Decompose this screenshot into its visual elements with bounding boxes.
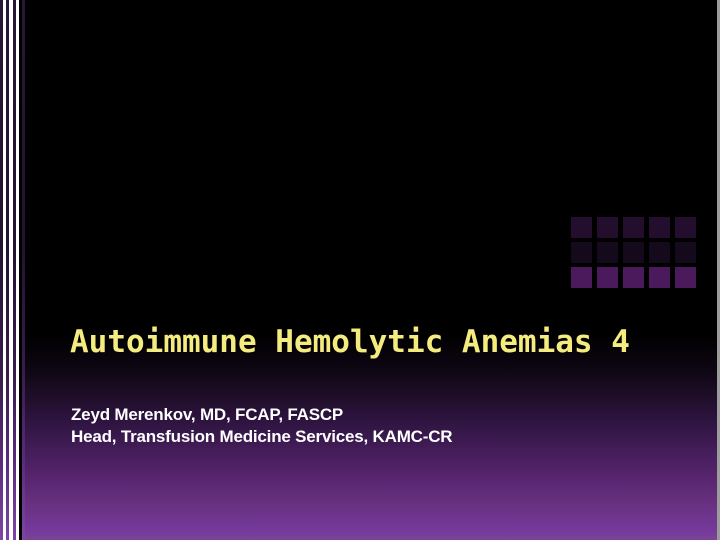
grid-square	[649, 242, 670, 263]
grid-square	[571, 242, 592, 263]
grid-square	[675, 267, 696, 288]
slide-subtitle: Zeyd Merenkov, MD, FCAP, FASCP Head, Tra…	[71, 404, 631, 448]
subtitle-line-affiliation: Head, Transfusion Medicine Services, KAM…	[71, 426, 631, 448]
decorative-square-grid	[571, 217, 696, 288]
grid-square	[623, 267, 644, 288]
left-stripe-8	[22, 0, 25, 540]
grid-square	[571, 217, 592, 238]
grid-square	[571, 267, 592, 288]
grid-square	[597, 242, 618, 263]
title-slide: Autoimmune Hemolytic Anemias 4 Zeyd Mere…	[0, 0, 720, 540]
left-stripe-decoration	[0, 0, 40, 540]
grid-square	[649, 217, 670, 238]
subtitle-line-presenter: Zeyd Merenkov, MD, FCAP, FASCP	[71, 404, 631, 426]
grid-square	[623, 242, 644, 263]
grid-square	[675, 217, 696, 238]
grid-square	[649, 267, 670, 288]
grid-square	[675, 242, 696, 263]
grid-square	[597, 217, 618, 238]
grid-square	[623, 217, 644, 238]
grid-square	[597, 267, 618, 288]
slide-title: Autoimmune Hemolytic Anemias 4	[70, 320, 700, 364]
